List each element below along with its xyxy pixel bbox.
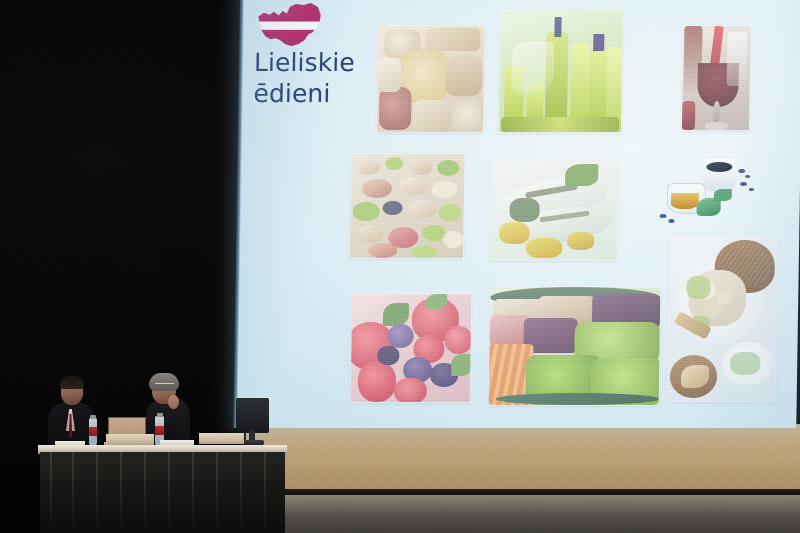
speaker-right-glasses xyxy=(155,383,174,389)
panel-table-skirt xyxy=(40,452,285,533)
slide-title-line-1: Lieliskie xyxy=(254,48,374,79)
name-placard-right xyxy=(199,433,244,444)
presentation-slide: Lieliskie ēdieni xyxy=(236,0,800,428)
slide-photo-legumes xyxy=(350,154,465,258)
name-placard-left xyxy=(106,434,154,445)
projection-screen: Lieliskie ēdieni xyxy=(236,0,800,428)
slide-photo-olive-oils xyxy=(499,10,623,132)
slide-photo-market-vegetables xyxy=(489,287,661,405)
slide-photo-nuts xyxy=(377,26,485,132)
speaker-left-hair xyxy=(60,376,84,389)
slide-title-line-2: ēdieni xyxy=(253,79,373,110)
slide-photo-herbal-tea xyxy=(653,156,762,228)
slide-photo-berries xyxy=(351,294,472,402)
confidence-monitor xyxy=(236,398,269,433)
slide-photo-red-wine xyxy=(682,26,751,130)
stage-wall xyxy=(245,424,800,496)
stage-floor-reflection xyxy=(246,495,800,517)
latvia-flag-map-icon xyxy=(256,2,323,49)
speaker-right-hand xyxy=(168,395,179,409)
screenshot-root: Lieliskie ēdieni xyxy=(0,0,800,533)
slide-photo-rye-bread-barley xyxy=(668,237,778,401)
water-bottle-left xyxy=(89,418,97,446)
slide-title: Lieliskie ēdieni xyxy=(253,48,374,109)
slide-photo-grilled-fish xyxy=(491,160,619,260)
